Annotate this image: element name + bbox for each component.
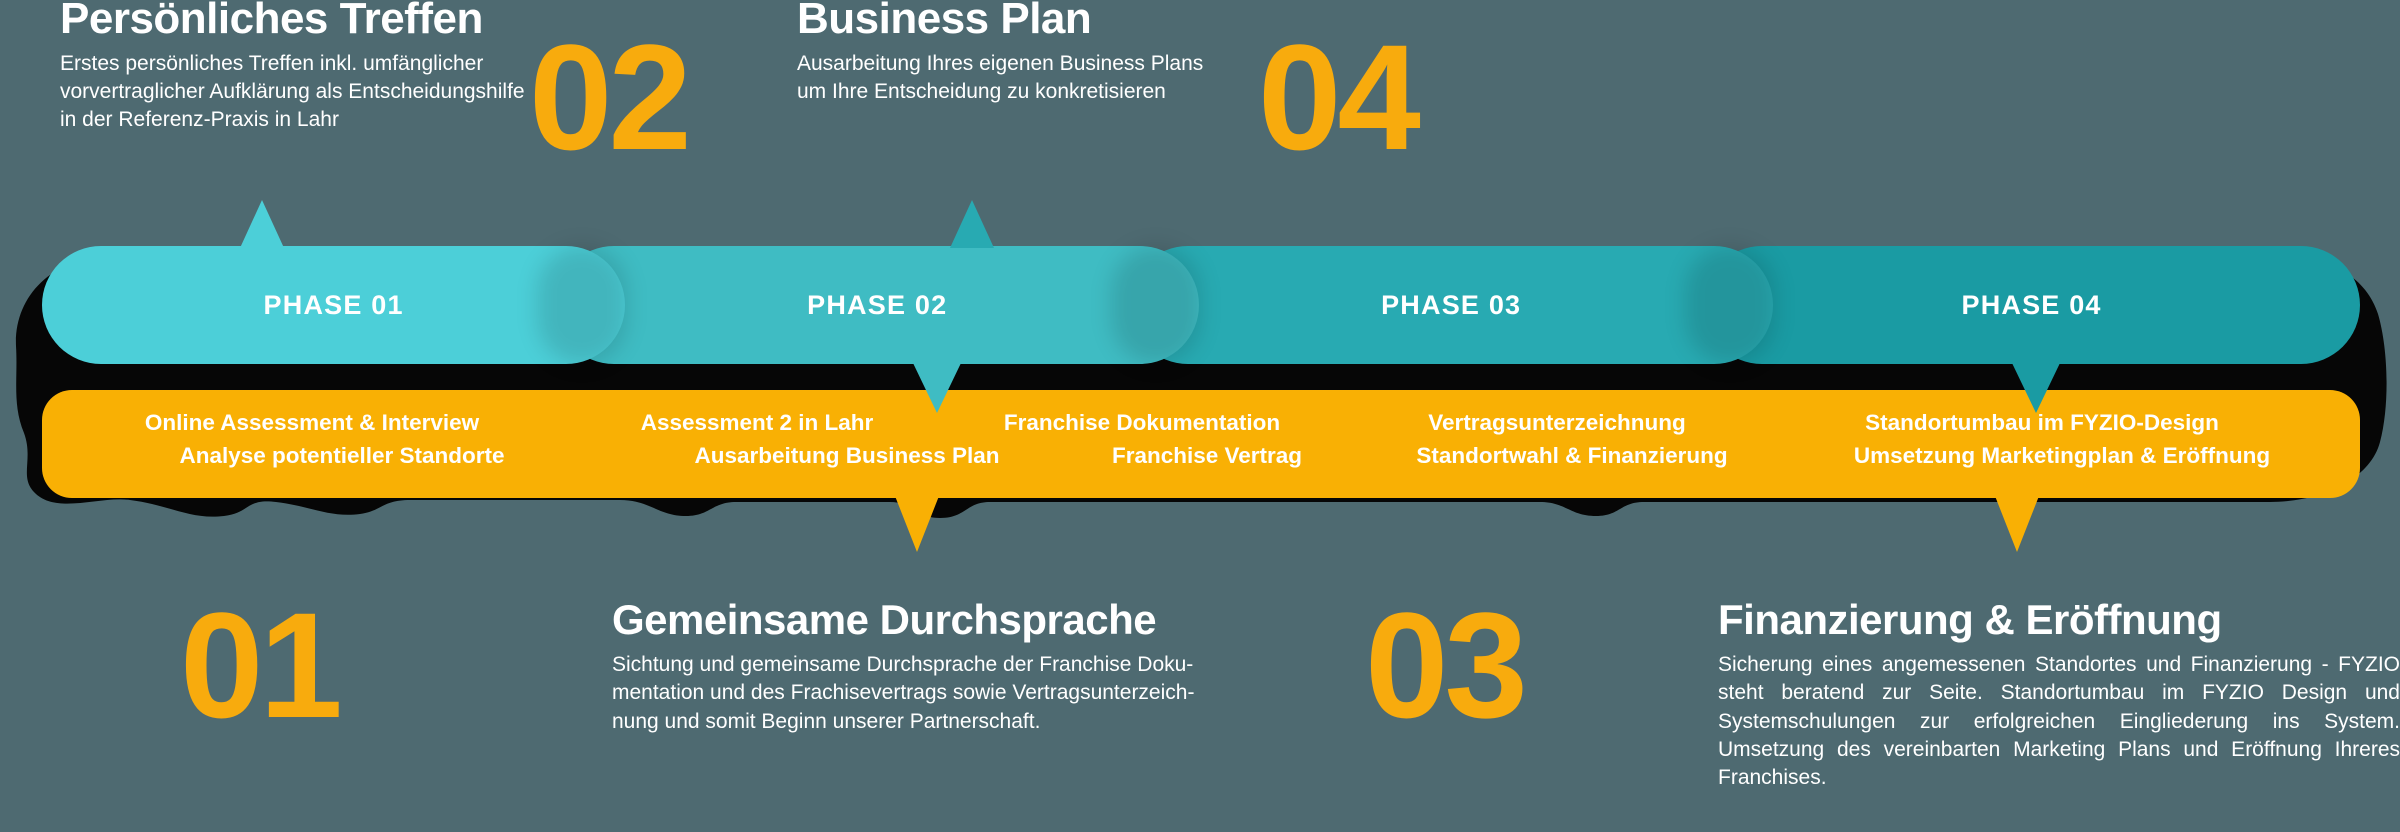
bottom-body-phase02: Sichtung und gemeinsame Durchsprache der… bbox=[612, 651, 1332, 736]
phase-label-03: PHASE 03 bbox=[1381, 290, 1521, 321]
callout-arrow-down-yellow-left-icon bbox=[895, 496, 939, 552]
callout-arrow-up-phase03-icon bbox=[950, 200, 994, 248]
phase-segment-04[interactable]: PHASE 04 bbox=[1703, 246, 2360, 364]
deliverable-item-3: Franchise Dokumentation bbox=[932, 410, 1352, 436]
deliverable-item-2: Assessment 2 in Lahr bbox=[582, 410, 932, 436]
bottom-body-phase04: Sicherung eines angemessenen Standortes … bbox=[1718, 651, 2400, 793]
deliverable-item-6: Analyse potentieller Standorte bbox=[42, 443, 642, 469]
deliverable-item-1: Online Assessment & Interview bbox=[42, 410, 582, 436]
deliverables-row-1: Online Assessment & Interview Assessment… bbox=[42, 410, 2360, 436]
bottom-title-phase04: Finanzierung & Eröffnung bbox=[1718, 598, 2400, 642]
phase-segment-03[interactable]: PHASE 03 bbox=[1129, 246, 1773, 364]
callout-arrow-down-phase02-icon bbox=[913, 363, 961, 413]
deliverable-item-5: Standortumbau im FYZIO-Design bbox=[1762, 410, 2322, 436]
callout-arrow-up-phase01-icon bbox=[240, 200, 284, 248]
callout-arrow-down-phase04-icon bbox=[2012, 363, 2060, 413]
callout-arrow-down-yellow-right-icon bbox=[1995, 496, 2039, 552]
bottom-text-block-phase04: Finanzierung & Eröffnung Sicherung eines… bbox=[1718, 598, 2400, 793]
deliverable-item-9: Standortwahl & Finanzierung bbox=[1362, 443, 1782, 469]
deliverable-item-8: Franchise Vertrag bbox=[1052, 443, 1362, 469]
bottom-title-phase02: Gemeinsame Durchsprache bbox=[612, 598, 1332, 642]
infographic-canvas: Persönliches Treffen Erstes persönliches… bbox=[0, 0, 2400, 832]
deliverable-item-10: Umsetzung Marketingplan & Eröffnung bbox=[1782, 443, 2342, 469]
deliverable-item-7: Ausarbeitung Business Plan bbox=[642, 443, 1052, 469]
deliverable-item-4: Vertragsunterzeichnung bbox=[1352, 410, 1762, 436]
phase-bar: PHASE 01 PHASE 02 PHASE 03 PHASE 04 bbox=[42, 246, 2360, 364]
phase-number-04: 04 bbox=[1258, 22, 1417, 172]
deliverables-row-2: Analyse potentieller Standorte Ausarbeit… bbox=[42, 443, 2360, 469]
phase-segment-02[interactable]: PHASE 02 bbox=[555, 246, 1199, 364]
phase-segment-01[interactable]: PHASE 01 bbox=[42, 246, 625, 364]
phase-number-01: 01 bbox=[180, 590, 339, 740]
phase-number-02: 02 bbox=[529, 22, 688, 172]
phase-label-02: PHASE 02 bbox=[807, 290, 947, 321]
phase-number-03: 03 bbox=[1365, 590, 1524, 740]
bottom-text-block-phase02: Gemeinsame Durchsprache Sichtung und gem… bbox=[612, 598, 1332, 736]
phase-label-01: PHASE 01 bbox=[264, 290, 404, 321]
phase-label-04: PHASE 04 bbox=[1961, 290, 2101, 321]
